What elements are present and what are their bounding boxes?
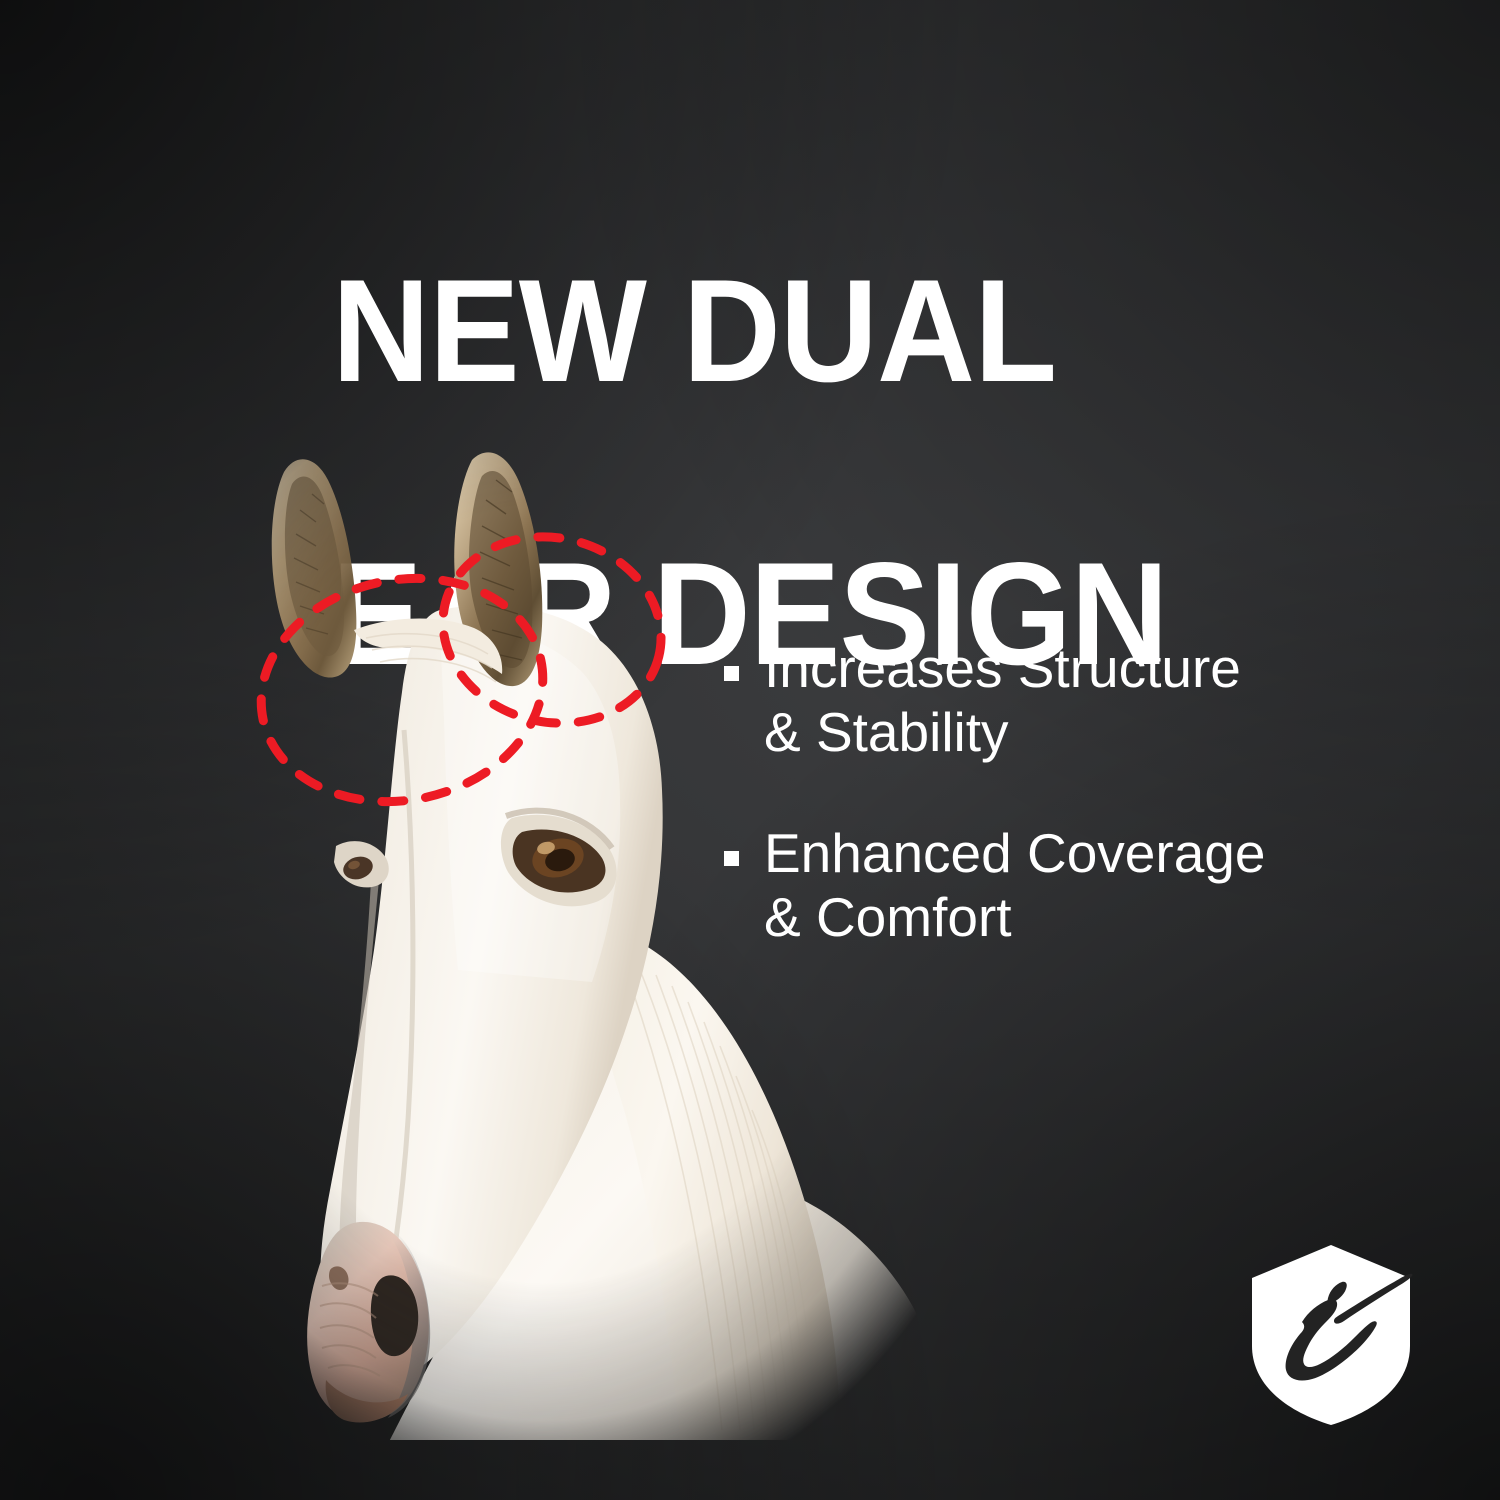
shield-shape <box>1252 1245 1410 1425</box>
feature-label: Enhanced Coverage & Comfort <box>764 821 1265 950</box>
list-item: Increases Structure & Stability <box>724 636 1424 765</box>
square-bullet-icon <box>724 851 739 866</box>
brand-logo <box>1242 1242 1420 1428</box>
feature-list: Increases Structure & Stability Enhanced… <box>724 636 1424 1005</box>
feature-label: Increases Structure & Stability <box>764 636 1241 765</box>
headline-line-1: NEW DUAL <box>332 260 1188 402</box>
ad-creative-canvas: NEW DUAL EAR DESIGN <box>0 0 1500 1500</box>
list-item: Enhanced Coverage & Comfort <box>724 821 1424 950</box>
square-bullet-icon <box>724 666 739 681</box>
